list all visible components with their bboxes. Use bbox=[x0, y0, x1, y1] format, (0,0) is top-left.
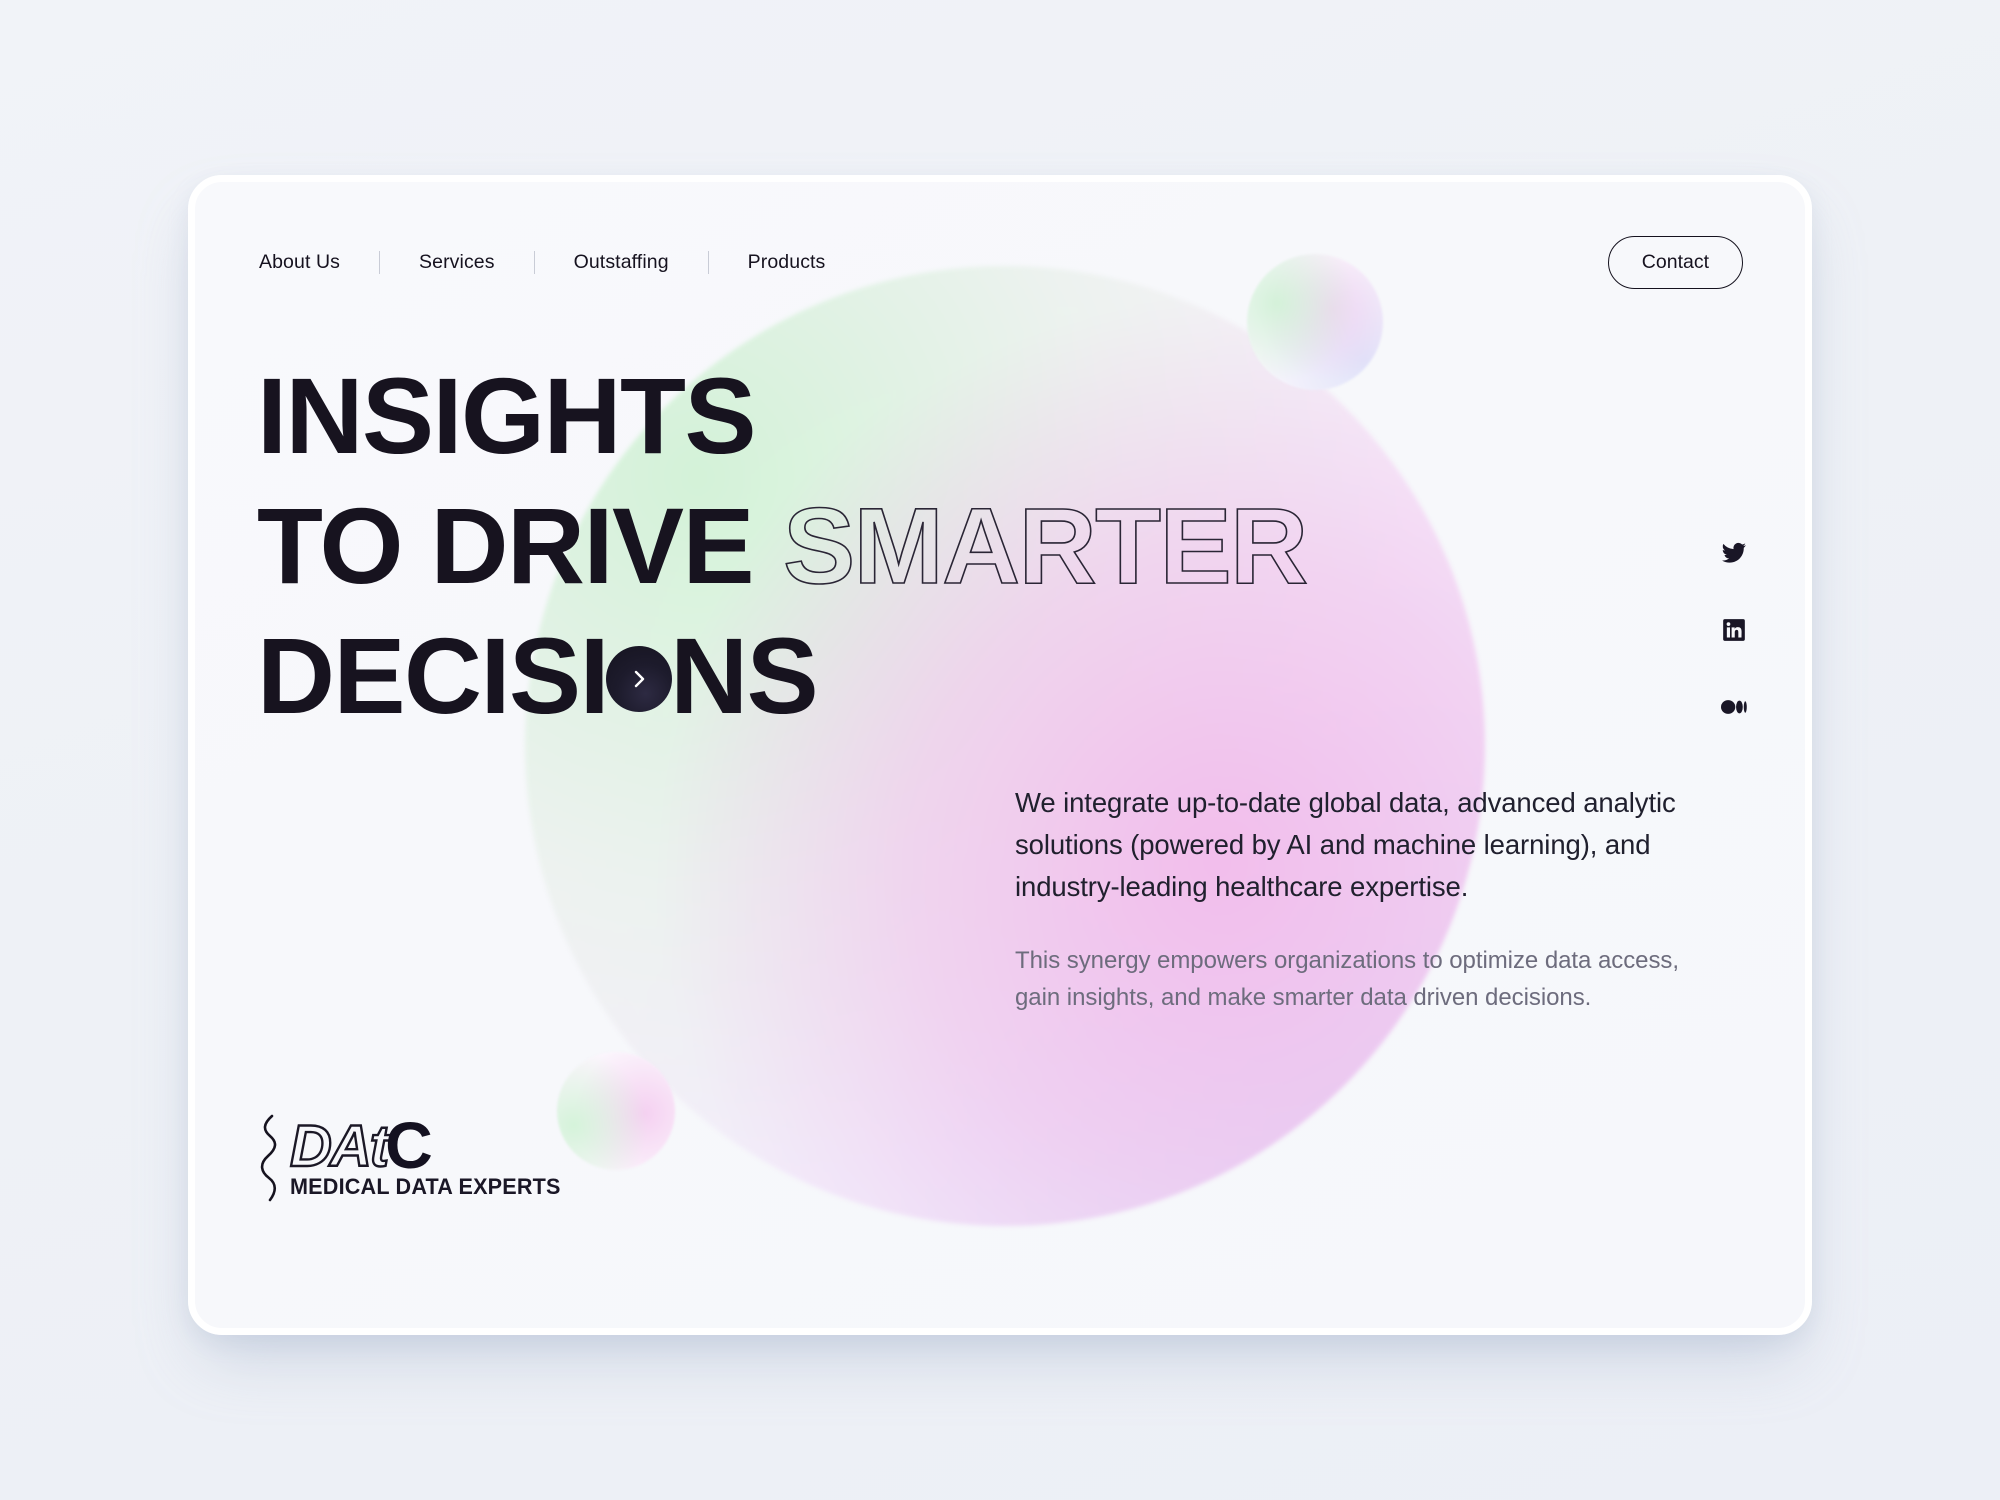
headline-line-2: TO DRIVE SMARTER bbox=[257, 492, 1307, 600]
headline-smarter-outline: SMARTER bbox=[783, 492, 1307, 600]
nav-link-outstaffing[interactable]: Outstaffing bbox=[572, 251, 671, 274]
headline-insights: INSIGHTS bbox=[257, 362, 755, 470]
top-navigation: About Us Services Outstaffing Products C… bbox=[195, 182, 1805, 289]
brand-logo[interactable]: DAt C MEDICAL DATA EXPERTS bbox=[257, 1114, 572, 1202]
social-rail bbox=[1721, 540, 1747, 720]
logo-c-solid: C bbox=[385, 1118, 431, 1172]
contact-button[interactable]: Contact bbox=[1608, 236, 1743, 289]
headline-ns: NS bbox=[670, 622, 817, 730]
medium-icon[interactable] bbox=[1721, 694, 1747, 720]
headline-decisi: DECISI bbox=[257, 622, 608, 730]
headline-to-drive: TO DRIVE bbox=[257, 492, 753, 600]
copy-sub-paragraph: This synergy empowers organizations to o… bbox=[1015, 943, 1715, 1016]
gradient-orb-bottom-left bbox=[557, 1052, 675, 1170]
nav-link-about-us[interactable]: About Us bbox=[257, 251, 342, 274]
logo-tagline: MEDICAL DATA EXPERTS bbox=[290, 1174, 561, 1200]
logo-dat-outline: DAt bbox=[290, 1123, 387, 1171]
hero-copy: We integrate up-to-date global data, adv… bbox=[1015, 782, 1715, 1016]
hero-card: About Us Services Outstaffing Products C… bbox=[188, 175, 1812, 1335]
nav-links: About Us Services Outstaffing Products bbox=[257, 251, 827, 274]
nav-link-products[interactable]: Products bbox=[746, 251, 828, 274]
chevron-right-icon[interactable] bbox=[606, 646, 672, 712]
logo-wordmark: DAt C bbox=[290, 1116, 572, 1170]
copy-lead-paragraph: We integrate up-to-date global data, adv… bbox=[1015, 782, 1715, 908]
nav-separator bbox=[708, 251, 709, 274]
page-background: About Us Services Outstaffing Products C… bbox=[0, 0, 2000, 1500]
nav-separator bbox=[379, 251, 380, 274]
twitter-icon[interactable] bbox=[1721, 540, 1747, 566]
hero-headline: INSIGHTS TO DRIVE SMARTER DECISI NS bbox=[257, 362, 1307, 730]
squiggle-icon bbox=[257, 1114, 283, 1202]
headline-line-3: DECISI NS bbox=[257, 622, 1307, 730]
nav-link-services[interactable]: Services bbox=[417, 251, 497, 274]
headline-line-1: INSIGHTS bbox=[257, 362, 1307, 470]
linkedin-icon[interactable] bbox=[1721, 617, 1747, 643]
nav-separator bbox=[534, 251, 535, 274]
logo-marks: DAt C MEDICAL DATA EXPERTS bbox=[290, 1116, 572, 1200]
